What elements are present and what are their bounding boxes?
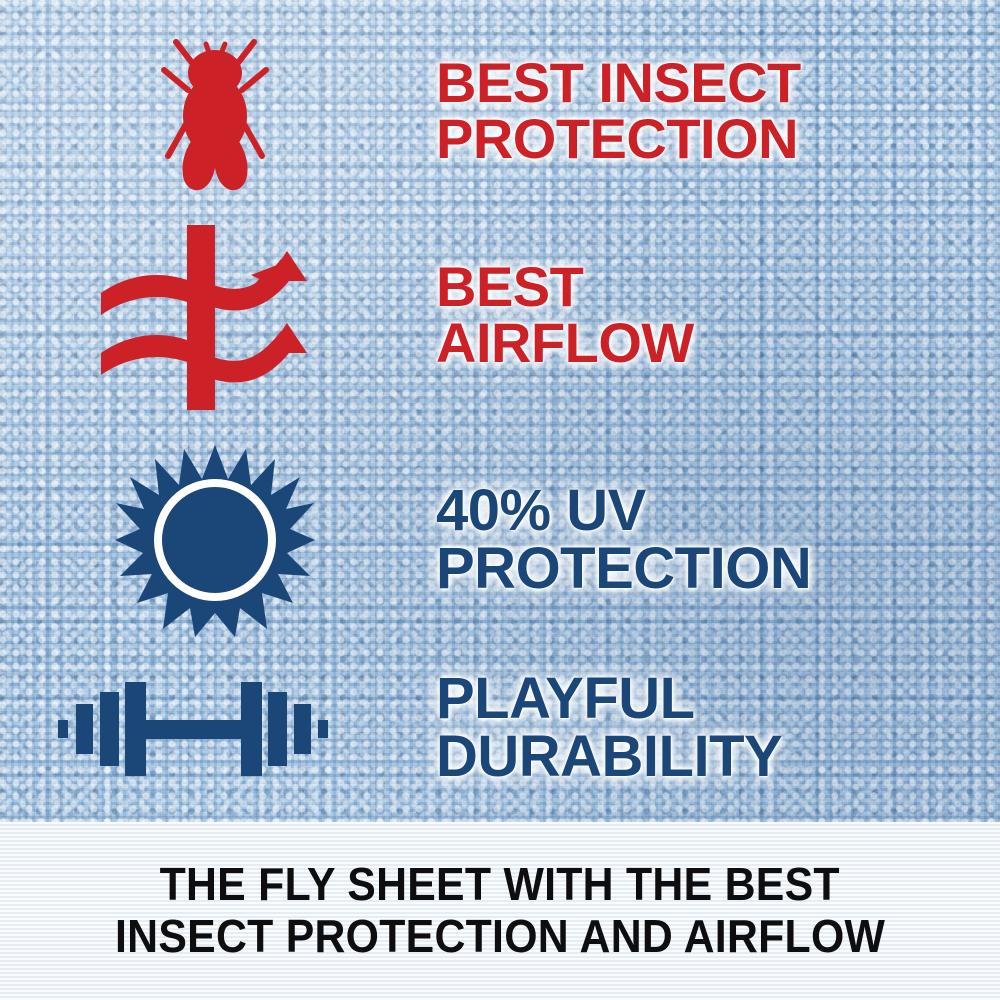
product-feature-infographic: BEST INSECT PROTECTION [0, 0, 1000, 1000]
feature-row-insect-protection: BEST INSECT PROTECTION [0, 28, 1000, 198]
feature-row-durability: PLAYFUL DURABILITY [0, 648, 1000, 808]
feature-line: PROTECTION [436, 540, 1000, 598]
feature-line: DURABILITY [436, 728, 1000, 786]
feature-icon-cell [0, 225, 416, 410]
feature-line: PLAYFUL [436, 670, 1000, 728]
feature-text-cell: 40% UV PROTECTION [430, 482, 1000, 598]
bottom-tagline-banner: THE FLY SHEET WITH THE BEST INSECT PROTE… [0, 822, 1000, 1000]
dumbbell-icon [58, 658, 328, 798]
feature-line: PROTECTION [436, 111, 1000, 167]
feature-row-airflow: BEST AIRFLOW [0, 222, 1000, 412]
feature-text-cell: BEST INSECT PROTECTION [430, 55, 1000, 167]
feature-line: BEST [436, 259, 1000, 315]
feature-icon-cell [0, 658, 408, 798]
feature-line: BEST INSECT [436, 55, 1000, 111]
airflow-arrows-icon [91, 225, 311, 410]
feature-icon-cell [0, 28, 430, 198]
fly-icon [140, 28, 290, 198]
feature-row-uv-protection: 40% UV PROTECTION [0, 440, 1000, 640]
feature-line: AIRFLOW [436, 315, 1000, 371]
feature-line: 40% UV [436, 482, 1000, 540]
feature-text-cell: BEST AIRFLOW [430, 259, 1000, 371]
tagline-line-2: INSECT PROTECTION AND AIRFLOW [115, 911, 885, 963]
feature-icon-cell [0, 443, 430, 638]
sun-uv-icon [115, 443, 315, 638]
tagline-line-1: THE FLY SHEET WITH THE BEST [160, 859, 840, 911]
feature-text-cell: PLAYFUL DURABILITY [430, 670, 1000, 786]
